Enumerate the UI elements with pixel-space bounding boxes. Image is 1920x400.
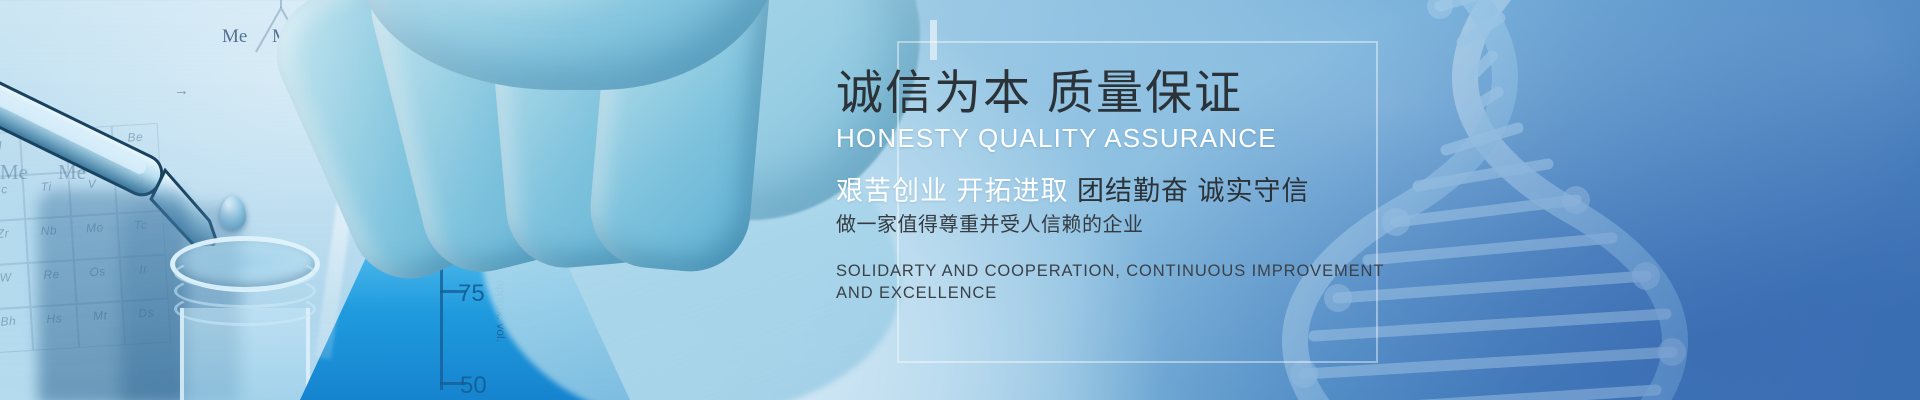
gloved-hand [300,0,860,290]
banner-slogan-cn: 艰苦创业 开拓进取 团结勤奋 诚实守信 [836,174,1476,208]
periodic-cell: Bh [0,307,33,354]
periodic-cell: W [0,263,31,310]
banner-text-block: 诚信为本 质量保证 HONESTY QUALITY ASSURANCE 艰苦创业… [836,66,1476,304]
banner-subtitle-cn: 做一家值得尊重并受人信赖的企业 [836,212,1476,238]
banner-footer-en-line2: AND EXCELLENCE [836,282,1476,304]
banner-headline-en: HONESTY QUALITY ASSURANCE [836,122,1476,154]
slogan-part-light: 艰苦创业 开拓进取 [836,176,1069,206]
bottle-thread [174,292,316,326]
glass-bottle [170,236,320,400]
flask-graduation-50: 50 [460,372,487,400]
accent-tick-mark [930,20,937,60]
slogan-part-dark: 团结勤奋 诚实守信 [1077,176,1310,206]
banner-headline-cn: 诚信为本 质量保证 [836,66,1476,120]
banner-footer-en-line1: SOLIDARTY AND COOPERATION, CONTINUOUS IM… [836,260,1476,282]
hero-banner: H He Li Be Sc Ti V Cr Zr Nb Mo Tc W Re O… [0,0,1920,400]
